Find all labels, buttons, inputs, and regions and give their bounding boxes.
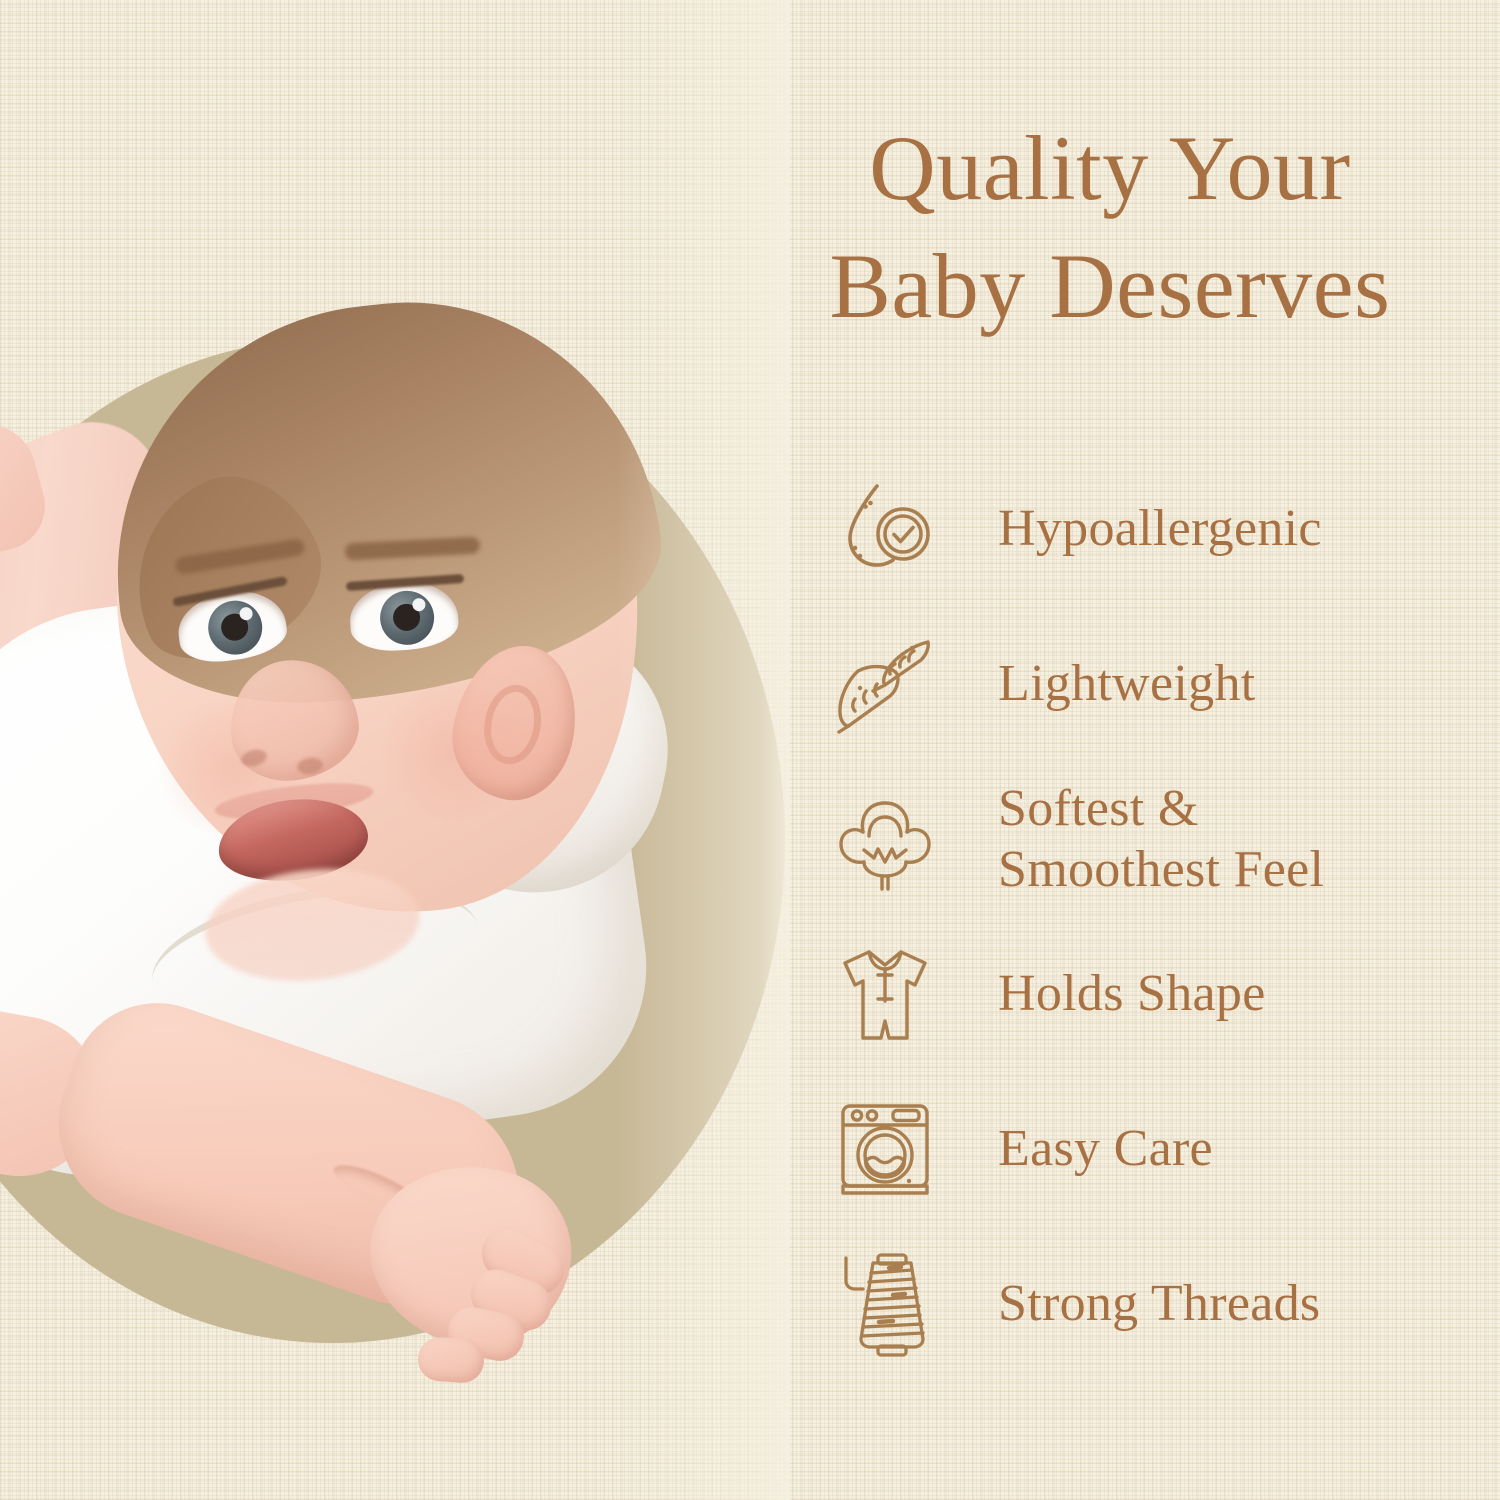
baby-illustration	[0, 330, 790, 1500]
feature-label: Softest & Smoothest Feel	[998, 779, 1324, 900]
thread-spool-icon	[830, 1250, 940, 1360]
feature-item-holds-shape: Holds Shape	[830, 917, 1490, 1072]
feature-item-hypoallergenic: Hypoallergenic	[830, 452, 1490, 607]
baby-photo	[0, 0, 790, 1500]
water-drop-check-icon	[830, 475, 940, 585]
feature-label: Holds Shape	[998, 964, 1266, 1024]
feature-label: Strong Threads	[998, 1274, 1320, 1334]
cotton-boll-icon	[830, 785, 940, 895]
feature-item-easy-care: Easy Care	[830, 1072, 1490, 1227]
washing-machine-icon	[830, 1095, 940, 1205]
product-infographic: Quality Your Baby Deserves	[0, 0, 1500, 1500]
feature-label: Lightweight	[998, 654, 1256, 714]
feature-item-lightweight: Lightweight	[830, 607, 1490, 762]
feature-label: Hypoallergenic	[998, 499, 1322, 559]
baby-finger	[417, 1336, 486, 1384]
feature-item-strong-threads: Strong Threads	[830, 1227, 1490, 1382]
content-column: Quality Your Baby Deserves	[800, 0, 1500, 1500]
feature-list: Hypoallergenic	[830, 452, 1490, 1382]
baby-romper-icon	[830, 940, 940, 1050]
baby-cheek-right	[370, 685, 535, 820]
feature-item-softest: Softest & Smoothest Feel	[830, 762, 1490, 917]
feather-icon	[830, 630, 940, 740]
feature-label: Easy Care	[998, 1119, 1213, 1179]
page-title: Quality Your Baby Deserves	[760, 110, 1460, 346]
